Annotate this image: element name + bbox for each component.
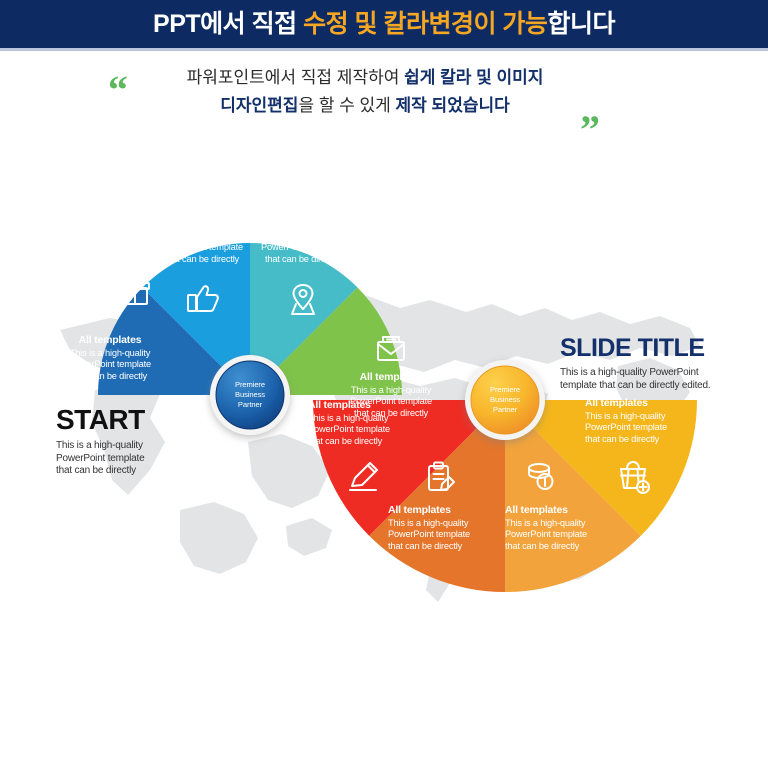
- left-hub-group[interactable]: [210, 355, 290, 435]
- quote-line-1-bold: 쉽게 칼라 및 이미지: [404, 68, 543, 87]
- slide-title: SLIDE TITLE: [560, 336, 768, 361]
- header-title-plain: PPT에서 직접: [153, 10, 303, 38]
- quote-block: “ ” 파워포인트에서 직접 제작하여 쉽게 칼라 및 이미지 디자인편집을 할…: [0, 56, 768, 146]
- start-desc-3: that can be directly: [56, 465, 136, 476]
- slide-title-desc-2: template that can be directly edited.: [560, 380, 710, 391]
- slide-canvas: PPT에서 직접 수정 및 칼라변경이 가능합니다 “ ” 파워포인트에서 직접…: [0, 0, 768, 768]
- slide-title-desc-1: This is a high-quality PowerPoint: [560, 367, 698, 378]
- right-hub-group[interactable]: [465, 360, 545, 440]
- start-panel: START This is a high-quality PowerPoint …: [56, 406, 216, 478]
- quote-line-2-bold-b: 제작 되었습니다: [396, 96, 510, 115]
- quote-line-2-normal: 을 할 수 있게: [298, 96, 395, 115]
- quote-open-icon: “: [108, 70, 128, 110]
- header-title-highlight: 수정 및 칼라변경이: [303, 10, 496, 38]
- start-title: START: [56, 406, 216, 434]
- quote-lines: 파워포인트에서 직접 제작하여 쉽게 칼라 및 이미지 디자인편집을 할 수 있…: [130, 64, 600, 120]
- quote-line-1-normal: 파워포인트에서 직접 제작하여: [187, 68, 405, 87]
- quote-line-2: 디자인편집을 할 수 있게 제작 되었습니다: [130, 92, 600, 120]
- start-desc-2: PowerPoint template: [56, 453, 144, 464]
- header-title-plain: 합니다: [547, 10, 615, 38]
- page-title: PPT에서 직접 수정 및 칼라변경이 가능합니다: [153, 12, 615, 37]
- infographic-diagram: All templates This is a high-quality Pow…: [0, 150, 768, 620]
- quote-line-1: 파워포인트에서 직접 제작하여 쉽게 칼라 및 이미지: [130, 64, 600, 92]
- header-title-highlight: 가능: [502, 10, 547, 38]
- slide-title-desc: This is a high-quality PowerPoint templa…: [560, 367, 768, 392]
- quote-line-2-bold-a: 디자인편집: [220, 96, 298, 115]
- slide-title-panel: SLIDE TITLE This is a high-quality Power…: [560, 336, 768, 392]
- start-desc: This is a high-quality PowerPoint templa…: [56, 440, 216, 478]
- header-bar: PPT에서 직접 수정 및 칼라변경이 가능합니다: [0, 0, 768, 51]
- start-desc-1: This is a high-quality: [56, 440, 143, 451]
